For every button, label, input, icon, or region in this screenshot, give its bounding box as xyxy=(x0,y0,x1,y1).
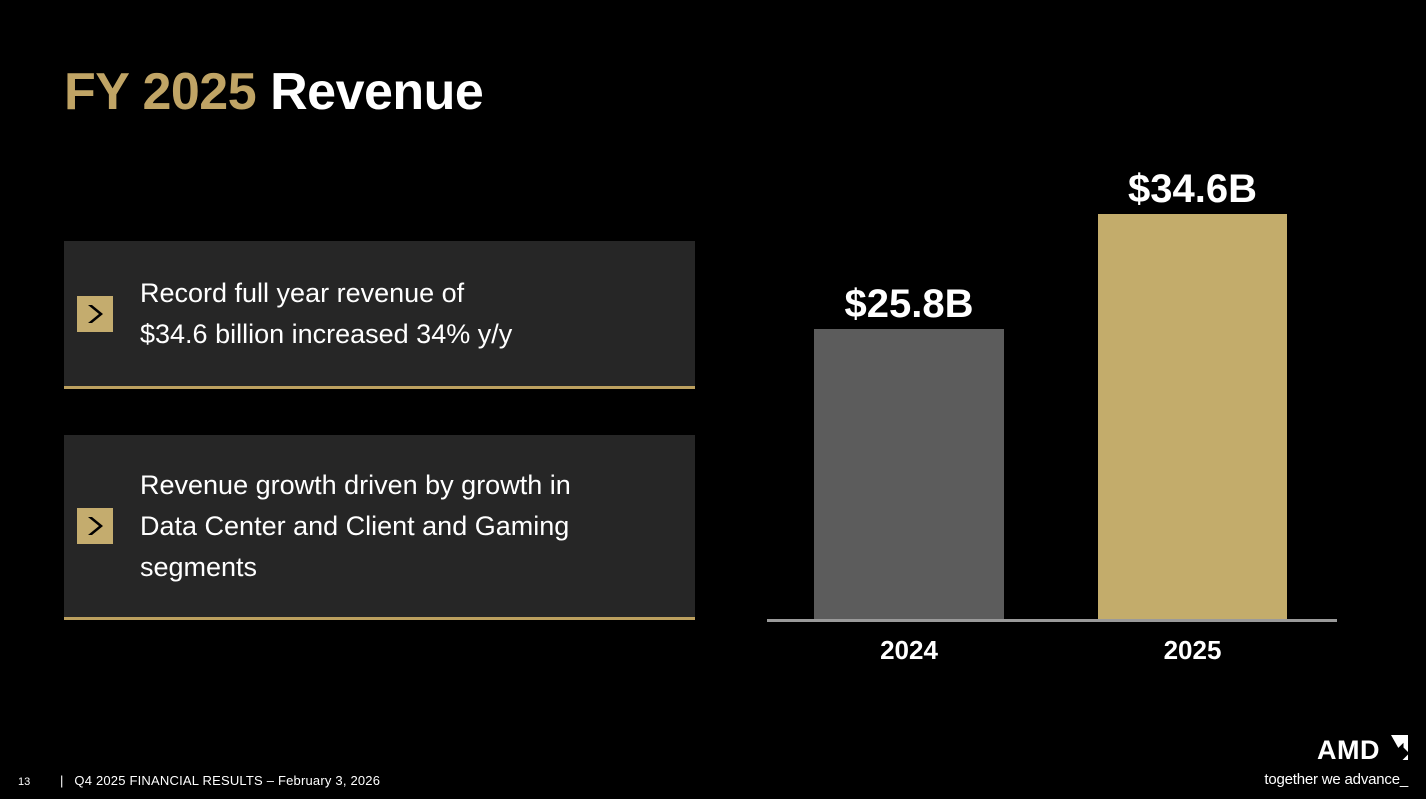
page-title: FY 2025 Revenue xyxy=(64,64,483,121)
bar-2024: $25.8B 2024 xyxy=(814,329,1004,619)
amd-arrow-icon xyxy=(1383,735,1408,765)
footer: 13 | Q4 2025 FINANCIAL RESULTS – Februar… xyxy=(18,773,380,788)
amd-logo: AMD together we advance_ xyxy=(1264,735,1408,787)
bar-rect-2025 xyxy=(1098,214,1287,619)
chevron-right-icon xyxy=(77,508,113,544)
chart-axis-line xyxy=(767,619,1337,622)
page-title-plain: Revenue xyxy=(270,63,483,121)
revenue-bar-chart: $25.8B 2024 $34.6B 2025 xyxy=(767,150,1342,675)
footer-separator: | xyxy=(60,773,63,788)
bar-category-2024: 2024 xyxy=(880,635,938,666)
bar-value-2024: $25.8B xyxy=(845,282,974,327)
page-number: 13 xyxy=(18,776,60,788)
bullet-text-1: Revenue growth driven by growth in Data … xyxy=(140,465,571,588)
bullet-card-1: Revenue growth driven by growth in Data … xyxy=(64,435,695,620)
bar-2025: $34.6B 2025 xyxy=(1098,214,1287,619)
bar-value-2025: $34.6B xyxy=(1128,167,1257,212)
amd-tagline: together we advance_ xyxy=(1264,772,1408,787)
bar-rect-2024 xyxy=(814,329,1004,619)
amd-logo-mark: AMD xyxy=(1264,735,1408,765)
bullet-card-0: Record full year revenue of $34.6 billio… xyxy=(64,241,695,389)
bar-category-2025: 2025 xyxy=(1164,635,1222,666)
chevron-right-icon xyxy=(77,296,113,332)
slide: FY 2025 Revenue Record full year revenue… xyxy=(0,0,1426,799)
page-title-accent: FY 2025 xyxy=(64,63,256,121)
bullet-text-0: Record full year revenue of $34.6 billio… xyxy=(140,273,512,355)
footer-text: Q4 2025 FINANCIAL RESULTS – February 3, … xyxy=(74,773,380,788)
amd-wordmark: AMD xyxy=(1317,737,1380,764)
